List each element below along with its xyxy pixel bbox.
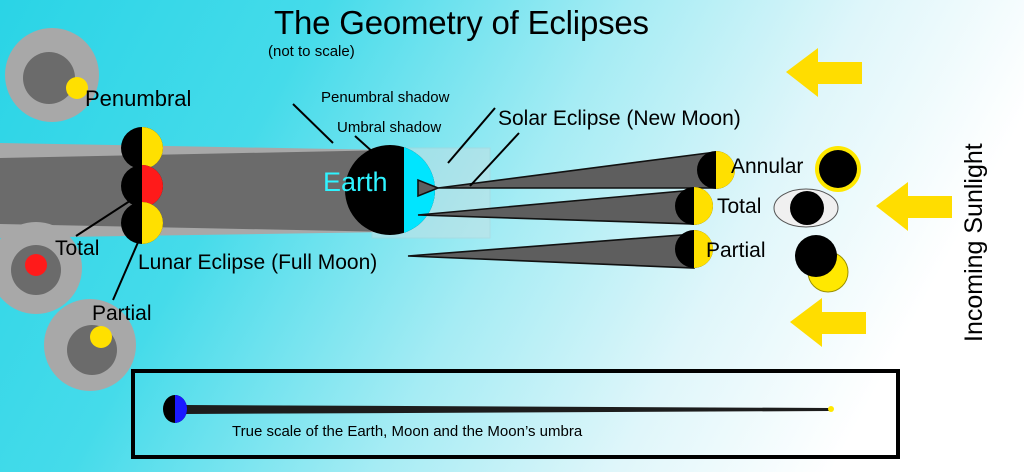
label-incoming-sunlight: Incoming Sunlight <box>962 42 986 342</box>
label-earth: Earth <box>323 169 388 196</box>
page-title: The Geometry of Eclipses <box>274 6 649 39</box>
label-total-solar: Total <box>717 196 761 217</box>
solar-view-total <box>774 189 838 227</box>
subtitle: (not to scale) <box>268 44 355 59</box>
solar-view-annular <box>815 146 861 192</box>
label-umbral-shadow: Umbral shadow <box>337 120 441 135</box>
label-penumbral-shadow: Penumbral shadow <box>321 90 449 105</box>
label-total-lunar: Total <box>55 238 99 259</box>
diagram-artwork <box>0 0 1024 472</box>
label-solar-eclipse: Solar Eclipse (New Moon) <box>498 108 741 129</box>
label-lunar-eclipse: Lunar Eclipse (Full Moon) <box>138 252 377 273</box>
label-partial-lunar: Partial <box>92 303 152 324</box>
eclipse-diagram: The Geometry of Eclipses (not to scale) … <box>0 0 1024 472</box>
label-penumbral-lunar: Penumbral <box>85 88 191 110</box>
label-annular: Annular <box>731 156 803 177</box>
label-partial-solar: Partial <box>706 240 766 261</box>
label-true-scale-caption: True scale of the Earth, Moon and the Mo… <box>232 424 582 439</box>
